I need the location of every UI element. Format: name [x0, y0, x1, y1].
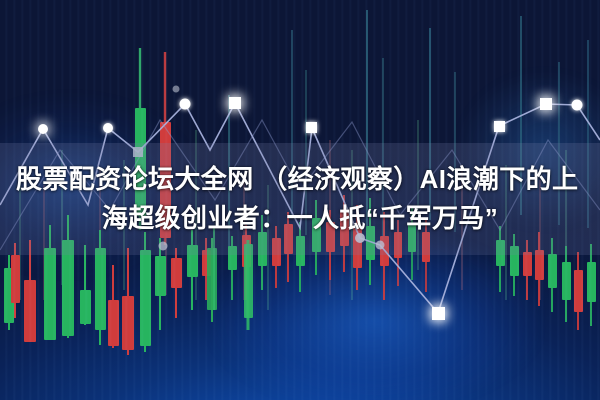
- banner-image: 股票配资论坛大全网 （经济观察）AI浪潮下的上 海超级创业者：一人抵“千军万马”: [0, 0, 600, 400]
- headline-line-2: 海超级创业者：一人抵“千军万马”: [102, 201, 498, 236]
- headline-line-1: 股票配资论坛大全网 （经济观察）AI浪潮下的上: [16, 162, 578, 197]
- headline-block: 股票配资论坛大全网 （经济观察）AI浪潮下的上 海超级创业者：一人抵“千军万马”: [0, 143, 600, 255]
